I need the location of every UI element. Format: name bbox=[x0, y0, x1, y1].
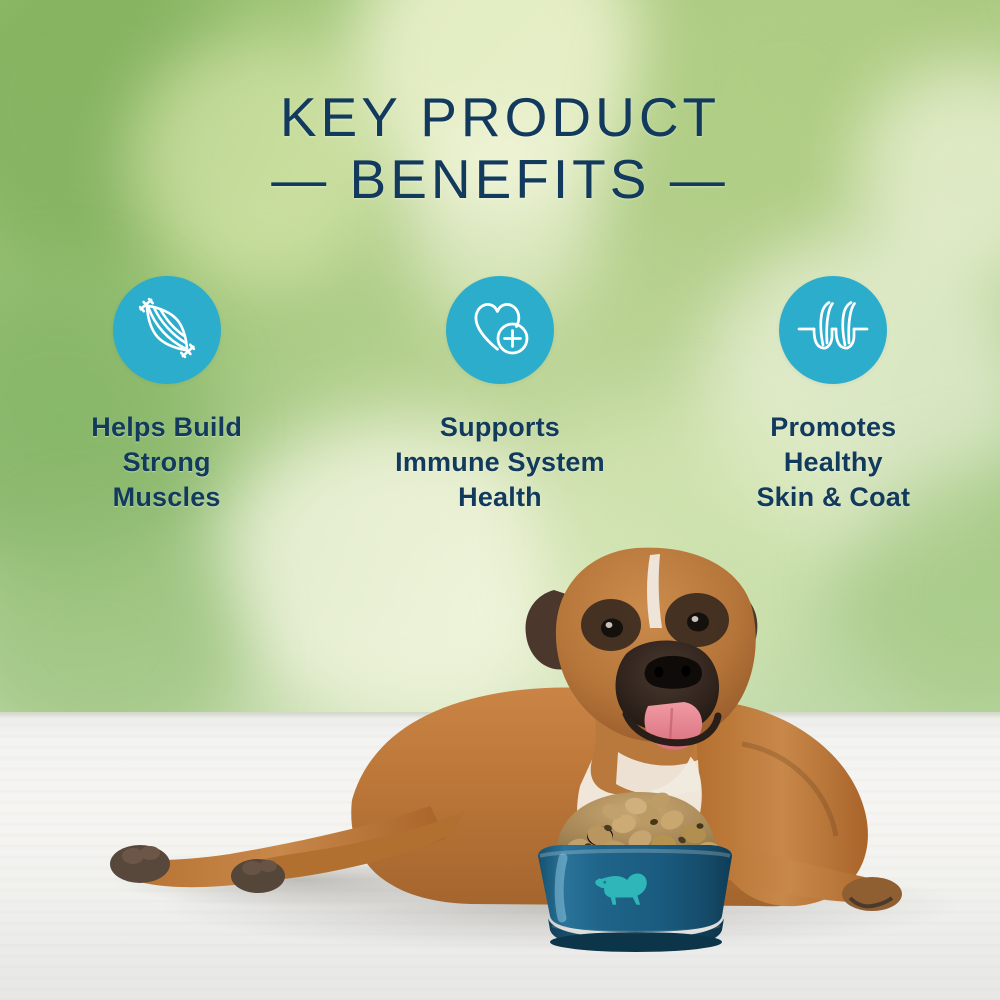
muscle-fiber-icon bbox=[130, 291, 204, 370]
benefits-row: Helps Build Strong Muscles Supports Immu… bbox=[0, 276, 1000, 515]
page-title-line-2: — BENEFITS — bbox=[0, 150, 1000, 208]
benefit-label-3: Promotes Healthy Skin & Coat bbox=[756, 410, 910, 515]
benefit-label-2: Supports Immune System Health bbox=[395, 410, 605, 515]
benefit-item-skin-coat: Promotes Healthy Skin & Coat bbox=[667, 276, 1000, 515]
promo-image: KEY PRODUCT — BENEFITS — bbox=[0, 0, 1000, 1000]
benefit-item-immune: Supports Immune System Health bbox=[333, 276, 666, 515]
page-title: KEY PRODUCT — BENEFITS — bbox=[0, 88, 1000, 209]
benefit-label-1: Helps Build Strong Muscles bbox=[91, 410, 242, 515]
page-title-line-1: KEY PRODUCT bbox=[0, 88, 1000, 146]
benefit-icon-badge-3 bbox=[779, 276, 887, 384]
floor-horizon-line bbox=[0, 712, 1000, 719]
benefit-icon-badge-1 bbox=[113, 276, 221, 384]
benefit-icon-badge-2 bbox=[446, 276, 554, 384]
benefit-item-muscles: Helps Build Strong Muscles bbox=[0, 276, 333, 515]
heart-plus-icon bbox=[464, 292, 536, 369]
floor-surface bbox=[0, 712, 1000, 1000]
hair-follicles-icon bbox=[796, 293, 870, 368]
